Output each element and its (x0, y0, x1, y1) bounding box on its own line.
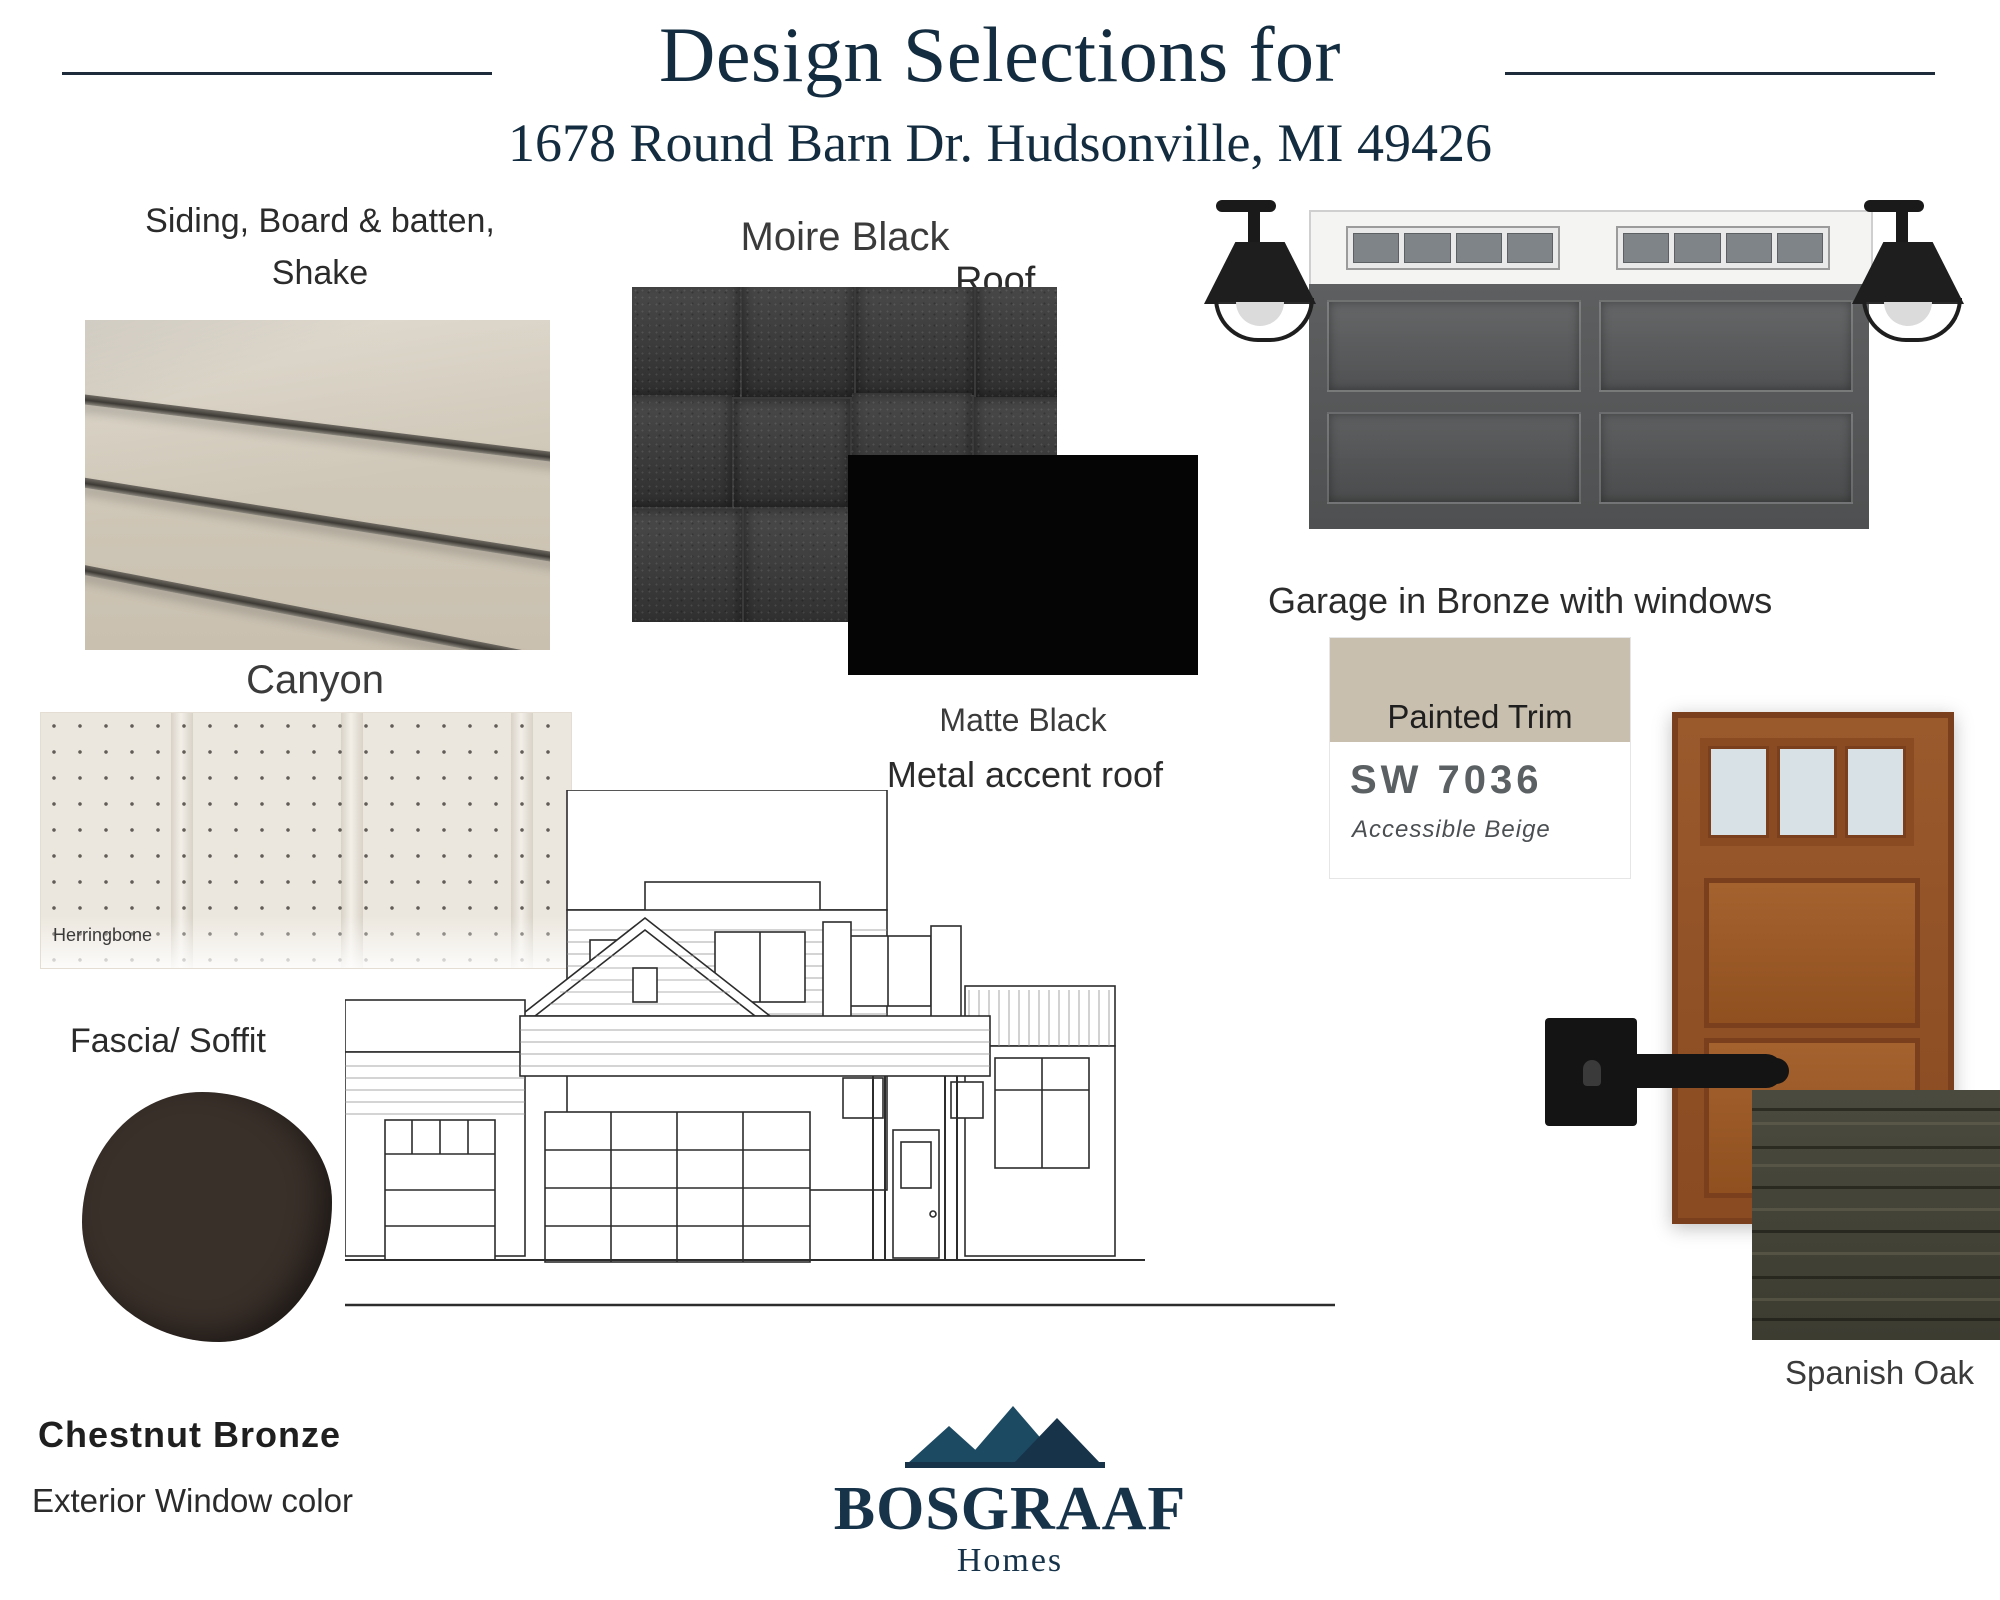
siding-groove (85, 558, 550, 650)
design-selections-board: Design Selections for 1678 Round Barn Dr… (0, 0, 2000, 1600)
exterior-window-color-label: Exterior Window color (32, 1480, 353, 1521)
garage-door-image (1196, 210, 1986, 610)
fascia-soffit-label: Fascia/ Soffit (70, 1020, 266, 1063)
garage-label: Garage in Bronze with windows (1268, 578, 1772, 623)
siding-label-line2: Shake (80, 252, 560, 295)
logo-wordmark: BOSGRAAF (820, 1478, 1200, 1540)
handle-lever (1623, 1054, 1783, 1088)
garage-window-right (1616, 226, 1830, 270)
paint-chip-sw7036: Painted Trim SW 7036 Accessible Beige (1330, 638, 1630, 878)
siding-label-line1: Siding, Board & batten, (80, 200, 560, 243)
mountain-icon (845, 1400, 1175, 1472)
fascia-bronze-swatch (82, 1092, 332, 1342)
canyon-label: Canyon (150, 655, 480, 705)
matte-black-label: Matte Black (848, 700, 1198, 740)
door-handle-image (1545, 1018, 1785, 1138)
moire-black-label: Moire Black (630, 212, 1060, 262)
siding-swatch (85, 320, 550, 650)
sconce-light-right (1844, 198, 1974, 348)
herringbone-caption: Herringbone (53, 925, 152, 946)
paint-code: SW 7036 (1350, 758, 1543, 803)
page-subtitle-address: 1678 Round Barn Dr. Hudsonville, MI 4942… (0, 112, 2000, 174)
paint-name: Accessible Beige (1352, 816, 1551, 844)
matte-black-swatch (848, 455, 1198, 675)
header: Design Selections for (0, 10, 2000, 100)
spanish-oak-label: Spanish Oak (1752, 1352, 2000, 1393)
house-elevation-drawing (345, 790, 1335, 1320)
door-panel (1704, 878, 1920, 1028)
garage-window-header (1309, 210, 1873, 286)
keyhole-icon (1583, 1060, 1601, 1086)
company-logo: BOSGRAAF Homes (820, 1400, 1200, 1590)
page-title: Design Selections for (0, 10, 2000, 100)
door-glass-lites (1700, 738, 1914, 846)
garage-window-left (1346, 226, 1560, 270)
chestnut-bronze-label: Chestnut Bronze (38, 1412, 341, 1457)
logo-subtext: Homes (820, 1542, 1200, 1580)
garage-door-panels (1309, 284, 1869, 529)
painted-trim-label: Painted Trim (1330, 698, 1630, 736)
sconce-light-left (1196, 198, 1326, 348)
spanish-oak-swatch (1752, 1090, 2000, 1340)
